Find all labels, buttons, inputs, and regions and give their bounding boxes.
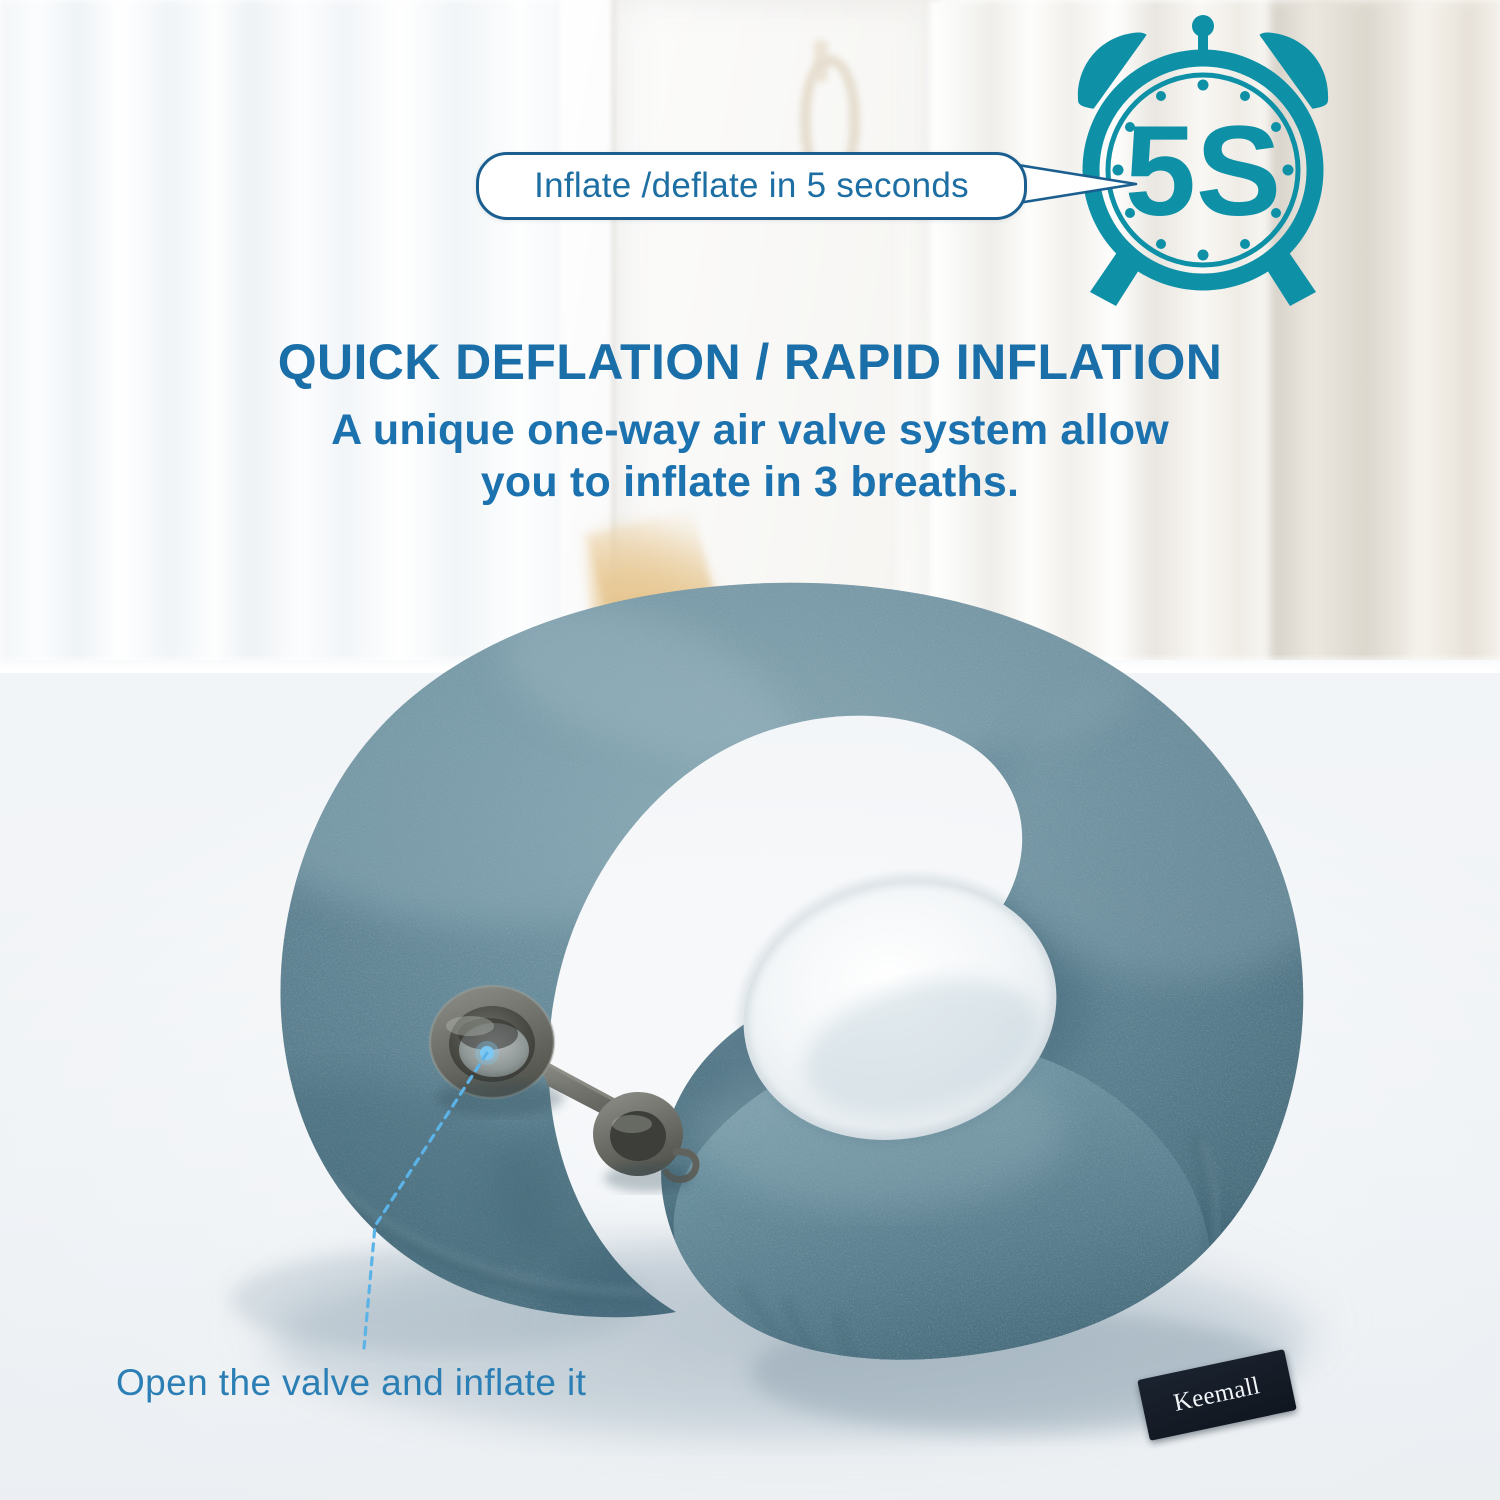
page-subtitle-line1: A unique one-way air valve system allow bbox=[0, 404, 1500, 456]
page-subtitle: A unique one-way air valve system allow … bbox=[0, 404, 1500, 508]
valve-ring-highlight bbox=[446, 1016, 494, 1036]
clock-label: 5S bbox=[1125, 100, 1282, 243]
product-feature-image: Keemall Open the valve and inflate it QU… bbox=[0, 0, 1500, 1500]
valve-shadow bbox=[436, 1080, 564, 1116]
pillow-highlight-right bbox=[990, 680, 1370, 980]
callout-tail bbox=[1010, 158, 1140, 210]
page-subtitle-line2: you to inflate in 3 breaths. bbox=[0, 456, 1500, 508]
callout-bubble: Inflate /deflate in 5 seconds bbox=[476, 152, 1027, 220]
valve-caption: Open the valve and inflate it bbox=[116, 1362, 586, 1404]
callout-label: Inflate /deflate in 5 seconds bbox=[534, 166, 969, 206]
page-title: QUICK DEFLATION / RAPID INFLATION bbox=[0, 333, 1500, 391]
valve-cap-shadow bbox=[604, 1164, 692, 1192]
valve-cap-highlight bbox=[612, 1115, 652, 1133]
